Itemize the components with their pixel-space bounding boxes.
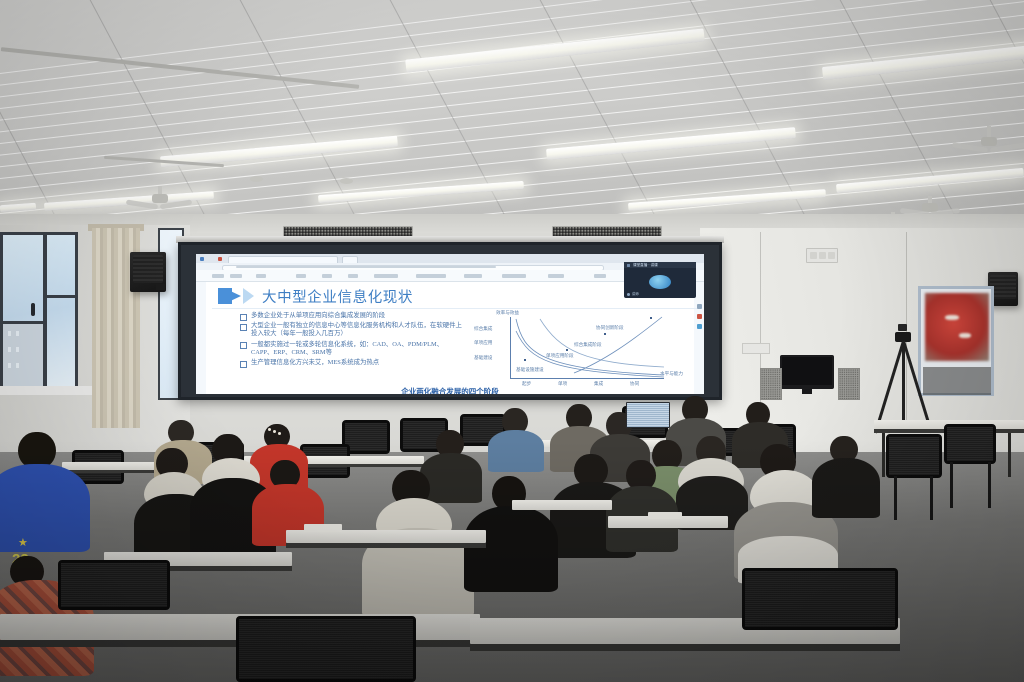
empty-chair[interactable]: [236, 616, 416, 682]
window-sill: [0, 386, 92, 395]
chart-annotation: 单项应用阶段: [546, 353, 574, 359]
empty-chair[interactable]: [58, 560, 170, 610]
video-grid-icon[interactable]: [627, 264, 630, 267]
door-lower-panel: [923, 367, 991, 395]
window: [0, 232, 78, 392]
ribbon-item[interactable]: [416, 274, 446, 278]
chart-annotation: 基础设施建设: [516, 367, 544, 373]
slide-arrow-icon: [224, 288, 241, 304]
chart-point: [524, 359, 526, 361]
chair-leg: [930, 476, 933, 520]
ribbon-item[interactable]: [256, 274, 266, 278]
wall-outlet[interactable]: [742, 343, 770, 354]
participant-icon: [627, 293, 630, 296]
slide-canvas: 大中型企业信息化现状 多数企业处于从单项应用向综合集成发展的阶段 大型企业一般有…: [206, 282, 694, 394]
desk-edge: [470, 644, 900, 651]
slide-bullet: 多数企业处于从单项应用向综合集成发展的阶段: [240, 312, 462, 320]
empty-chair[interactable]: [742, 568, 898, 630]
ribbon-item[interactable]: [322, 274, 332, 278]
ribbon-item[interactable]: [464, 274, 482, 278]
ribbon-item[interactable]: [374, 274, 398, 278]
bullet-text: 一般都实施过一轮或多轮信息化系统，如：CAD、OA、PDM/PLM、CAPP、E…: [251, 341, 462, 357]
bullet-marker-icon: [240, 314, 247, 321]
desk-leg: [882, 433, 885, 477]
bullet-marker-icon: [240, 361, 247, 368]
ribbon-item[interactable]: [230, 274, 242, 278]
ribbon-item[interactable]: [502, 274, 526, 278]
browser-logo-icon: [200, 257, 204, 261]
wall-speaker: [130, 252, 166, 292]
monitor-stand: [802, 389, 812, 394]
empty-chair[interactable]: [944, 424, 996, 464]
ceiling-fan: [140, 186, 180, 212]
slide-title-rule: [212, 308, 700, 309]
smoke-detector-icon: [340, 178, 353, 184]
chart-point: [604, 333, 606, 335]
notebook: [648, 512, 682, 519]
video-call-panel[interactable]: 课堂直播 · 讲课 讲师: [624, 262, 696, 298]
ribbon-item[interactable]: [548, 274, 564, 278]
sidebar-button[interactable]: [697, 304, 702, 309]
ribbon-item[interactable]: [212, 274, 224, 278]
teacher-monitor: [780, 355, 834, 389]
empty-chair[interactable]: [886, 434, 942, 478]
app-icon: [218, 257, 222, 261]
desktop-speaker: [760, 368, 782, 400]
slide-chart: 效率与效益 综合集成 单项应用 基础建设 起步 单项 集成 协同 水平与能力: [454, 311, 686, 391]
chart-point: [566, 349, 568, 351]
window-latch[interactable]: [31, 303, 35, 316]
bullet-text: 生产管理信息化方兴未艾，MES系统成为热点: [251, 359, 462, 367]
chart-annotation: 协同创新阶段: [596, 325, 624, 331]
chair-leg: [950, 462, 953, 508]
user-avatar-icon: [649, 275, 671, 289]
jacket-star-graphic: ★: [18, 538, 28, 549]
url-text: [236, 266, 496, 268]
projection-screen[interactable]: 大中型企业信息化现状 多数企业处于从单项应用向综合集成发展的阶段 大型企业一般有…: [196, 254, 704, 394]
slide-bullet: 生产管理信息化方兴未艾，MES系统成为热点: [240, 359, 462, 367]
door-poster: [925, 293, 989, 361]
desk-edge: [286, 543, 486, 548]
desk: [512, 500, 612, 510]
ribbon-item[interactable]: [348, 274, 358, 278]
chart-point: [650, 317, 652, 319]
hair-clip: [268, 428, 271, 431]
slide-caption: 企业两化融合发展的四个阶段: [206, 386, 694, 394]
laptop: [626, 402, 670, 428]
chair-leg: [894, 476, 897, 520]
bullet-text: 多数企业处于从单项应用向综合集成发展的阶段: [251, 312, 462, 320]
slide-bullet: 一般都实施过一轮或多轮信息化系统，如：CAD、OA、PDM/PLM、CAPP、E…: [240, 341, 462, 357]
ribbon-item[interactable]: [296, 274, 306, 278]
camera-icon: [898, 324, 907, 331]
chart-curves: [454, 311, 686, 391]
slide-bullet-list: 多数企业处于从单项应用向综合集成发展的阶段 大型企业一般有独立的信息中心等信息化…: [240, 312, 462, 369]
bullet-marker-icon: [240, 342, 247, 349]
chart-annotation: 综合集成阶段: [574, 342, 602, 348]
desk-leg: [1008, 433, 1011, 477]
chair-leg: [988, 462, 991, 508]
notebook: [304, 524, 342, 532]
ribbon-item[interactable]: [594, 274, 606, 278]
bullet-marker-icon: [240, 324, 247, 331]
bullet-text: 大型企业一般有独立的信息中心等信息化服务机构和人才队伍，在软硬件上投入较大（每年…: [251, 322, 462, 338]
hair-clip: [273, 430, 276, 433]
video-call-participant: 讲师: [632, 291, 639, 296]
door[interactable]: [918, 286, 994, 396]
desktop-speaker: [838, 368, 860, 400]
sidebar-button[interactable]: [697, 314, 702, 319]
ceiling-fan: [968, 126, 1010, 154]
slide-title: 大中型企业信息化现状: [262, 286, 413, 307]
classroom-photo: 大中型企业信息化现状 多数企业处于从单项应用向综合集成发展的阶段 大型企业一般有…: [0, 0, 1024, 682]
hair-clip: [278, 432, 281, 435]
smoke-detector-icon: [250, 176, 263, 182]
wall-outlet[interactable]: [806, 248, 838, 263]
video-call-title: 课堂直播 · 讲课: [633, 263, 658, 268]
sidebar-button[interactable]: [697, 324, 702, 329]
chevron-right-icon: [243, 288, 254, 304]
slide-bullet: 大型企业一般有独立的信息中心等信息化服务机构和人才队伍，在软硬件上投入较大（每年…: [240, 322, 462, 338]
